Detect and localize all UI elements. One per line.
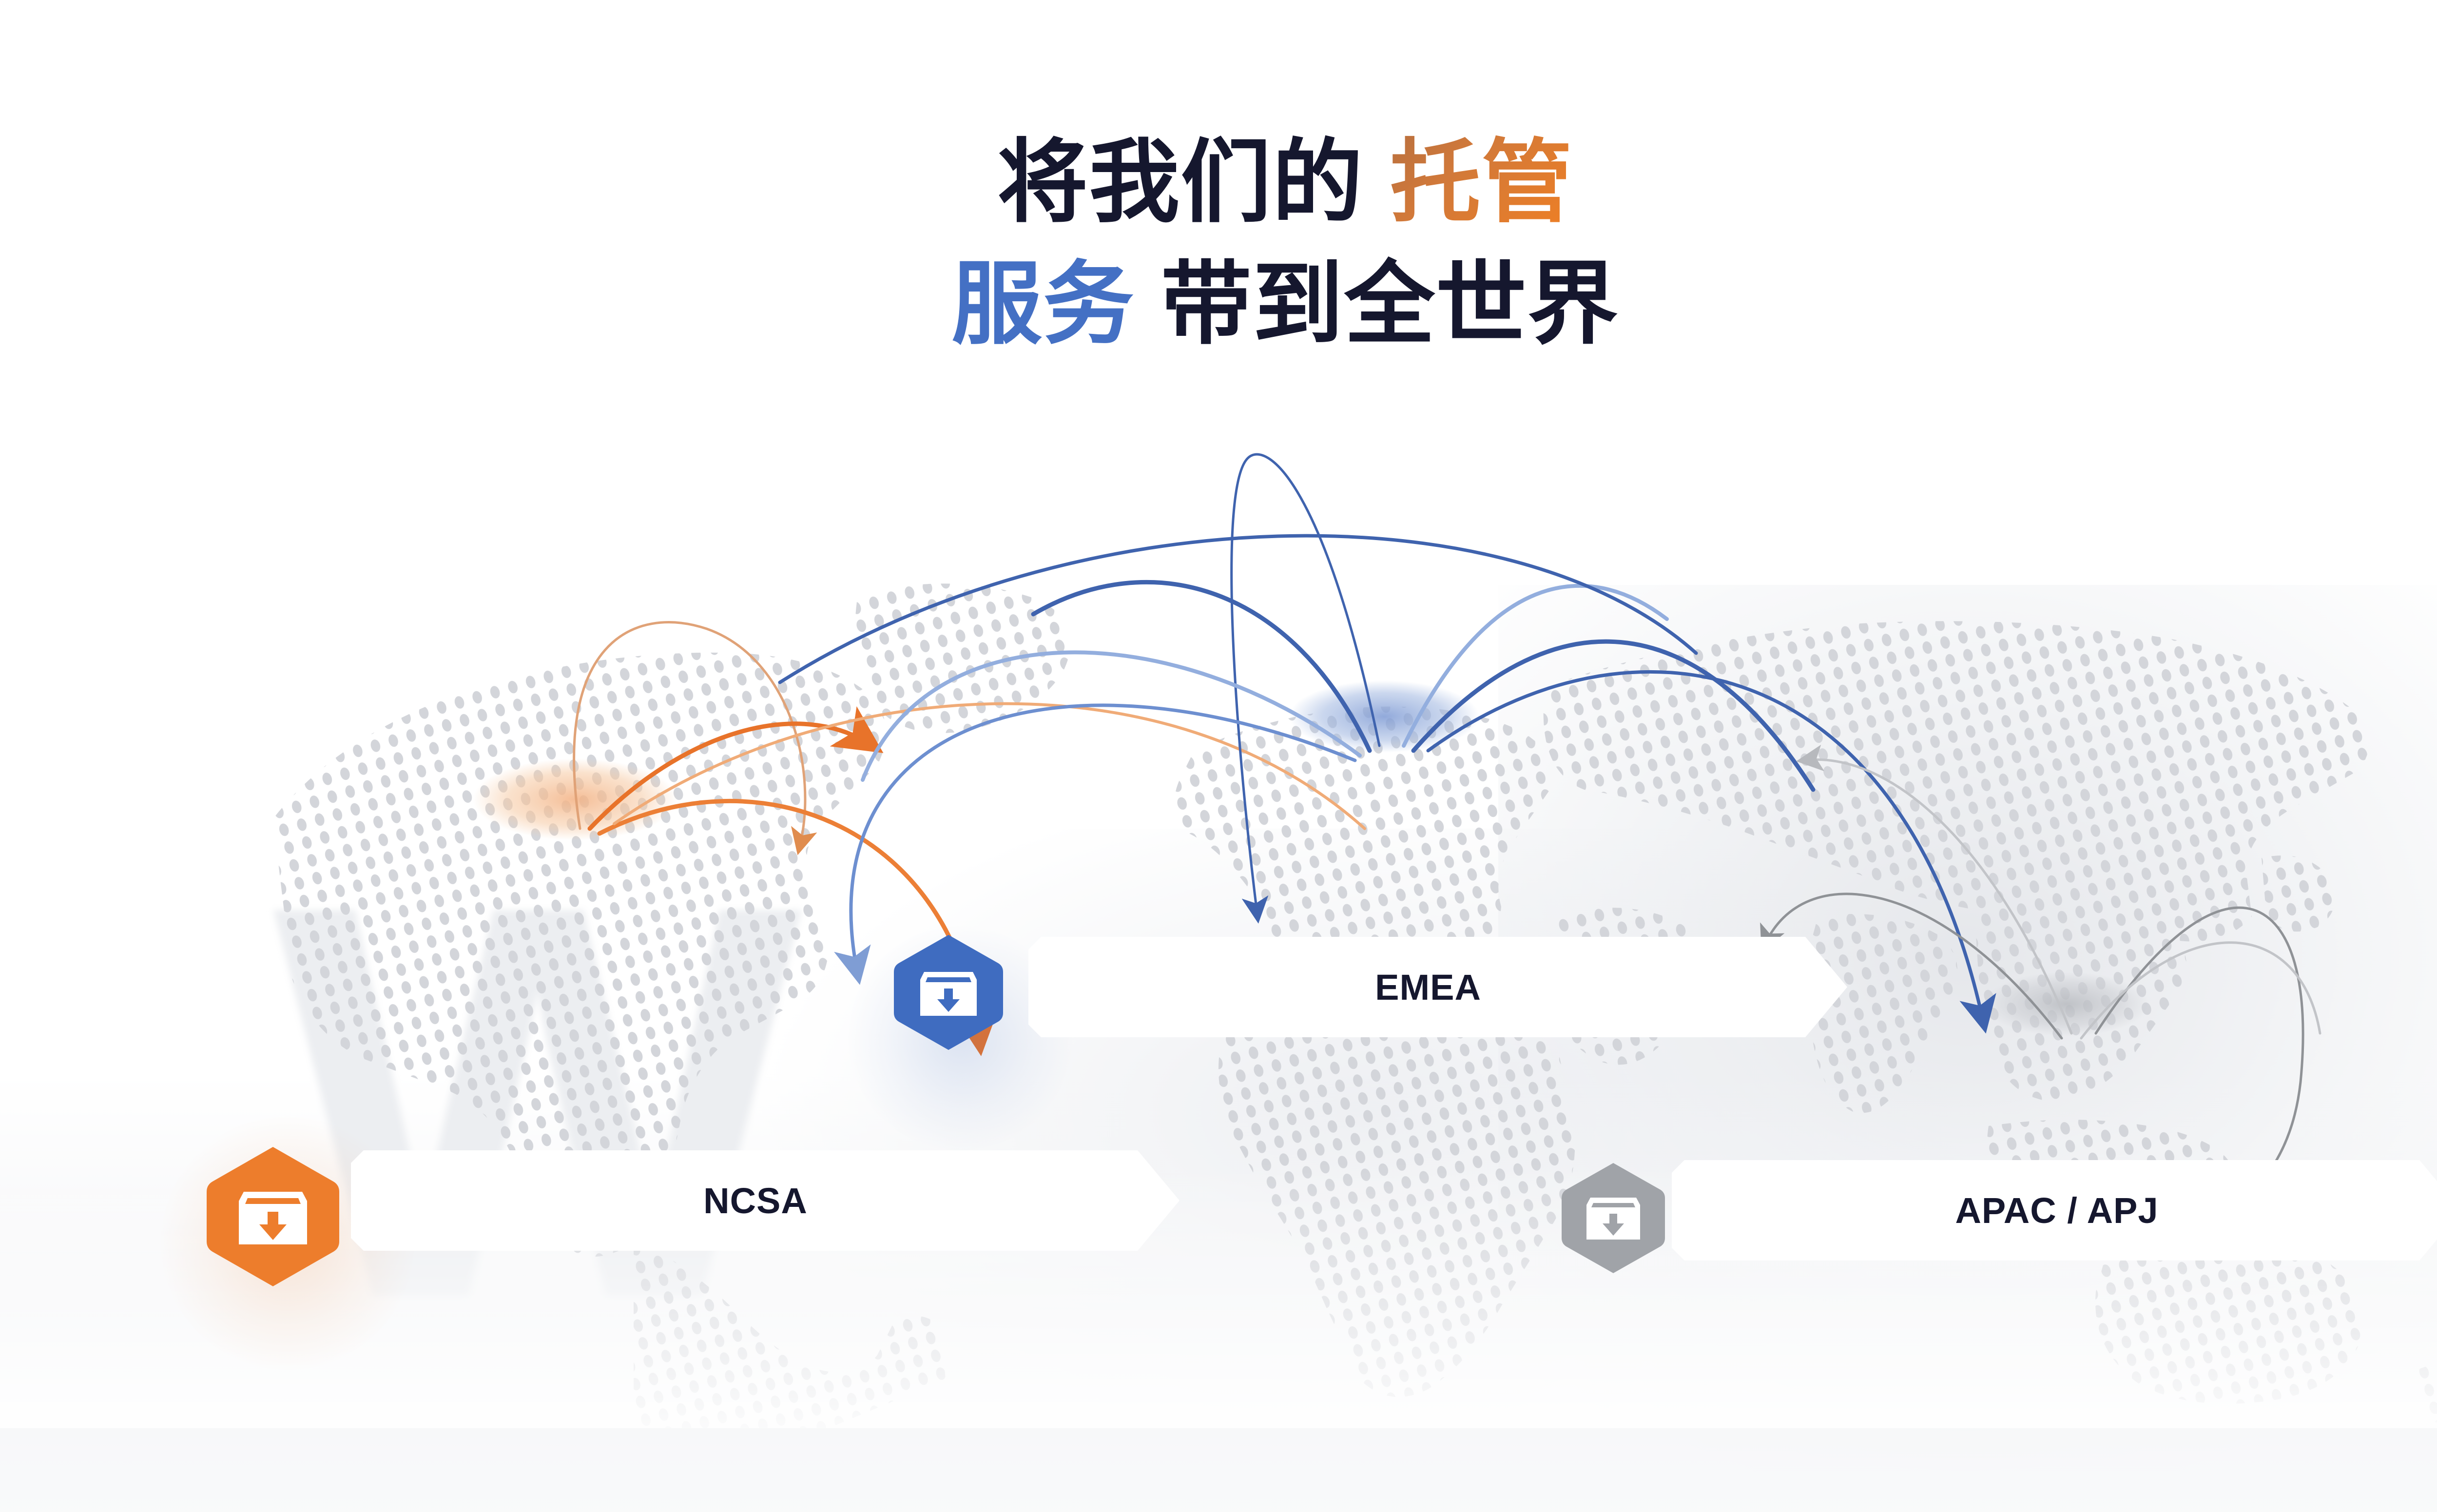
archive-download-icon bbox=[239, 1192, 307, 1244]
ncsa-hex-icon-wrap[interactable] bbox=[205, 1144, 341, 1289]
headline-segment-dark-2: 带到全世界 bbox=[1161, 254, 1619, 355]
region-badge-emea[interactable]: EMEA bbox=[892, 937, 1847, 1037]
emea-pill[interactable]: EMEA bbox=[1028, 937, 1847, 1037]
headline-line-1: 将我们的 托管 bbox=[0, 122, 2437, 244]
headline-segment-blue: 服务 bbox=[951, 254, 1135, 355]
arc-emea-northwest bbox=[1033, 582, 1370, 751]
arc-emea-east bbox=[1413, 641, 1813, 790]
arc-north-long bbox=[780, 536, 1696, 682]
emea-hex-icon-wrap[interactable] bbox=[892, 933, 1005, 1052]
slide-canvas: W bbox=[0, 0, 2437, 1512]
headline-segment-orange: 托管 bbox=[1390, 132, 1573, 233]
hexagon-shape-apac bbox=[1560, 1161, 1667, 1275]
emea-label: EMEA bbox=[1028, 967, 1847, 1008]
headline: 将我们的 托管 服务 带到全世界 bbox=[0, 122, 2437, 366]
arc-ncsa-north bbox=[574, 622, 805, 848]
arc-apac-far-east bbox=[2081, 943, 2320, 1038]
apac-pill[interactable]: APAC / APJ bbox=[1672, 1160, 2437, 1260]
headline-segment-dark-1: 将我们的 bbox=[997, 132, 1364, 233]
region-badge-apac[interactable]: APAC / APJ bbox=[1560, 1160, 2437, 1260]
apac-hex-icon-wrap[interactable] bbox=[1560, 1161, 1667, 1275]
hexagon-shape-emea bbox=[892, 933, 1005, 1052]
arc-emea-west bbox=[863, 652, 1360, 780]
archive-download-icon bbox=[920, 972, 977, 1016]
ncsa-label: NCSA bbox=[351, 1180, 1180, 1221]
apac-label: APAC / APJ bbox=[1672, 1190, 2437, 1231]
arc-emea-north bbox=[1232, 454, 1379, 916]
headline-line-2: 服务 带到全世界 bbox=[0, 244, 2437, 366]
hexagon-shape-ncsa bbox=[205, 1144, 341, 1289]
archive-download-icon bbox=[1586, 1198, 1640, 1240]
region-badge-ncsa[interactable]: NCSA bbox=[205, 1150, 1180, 1251]
ncsa-pill[interactable]: NCSA bbox=[351, 1150, 1180, 1251]
